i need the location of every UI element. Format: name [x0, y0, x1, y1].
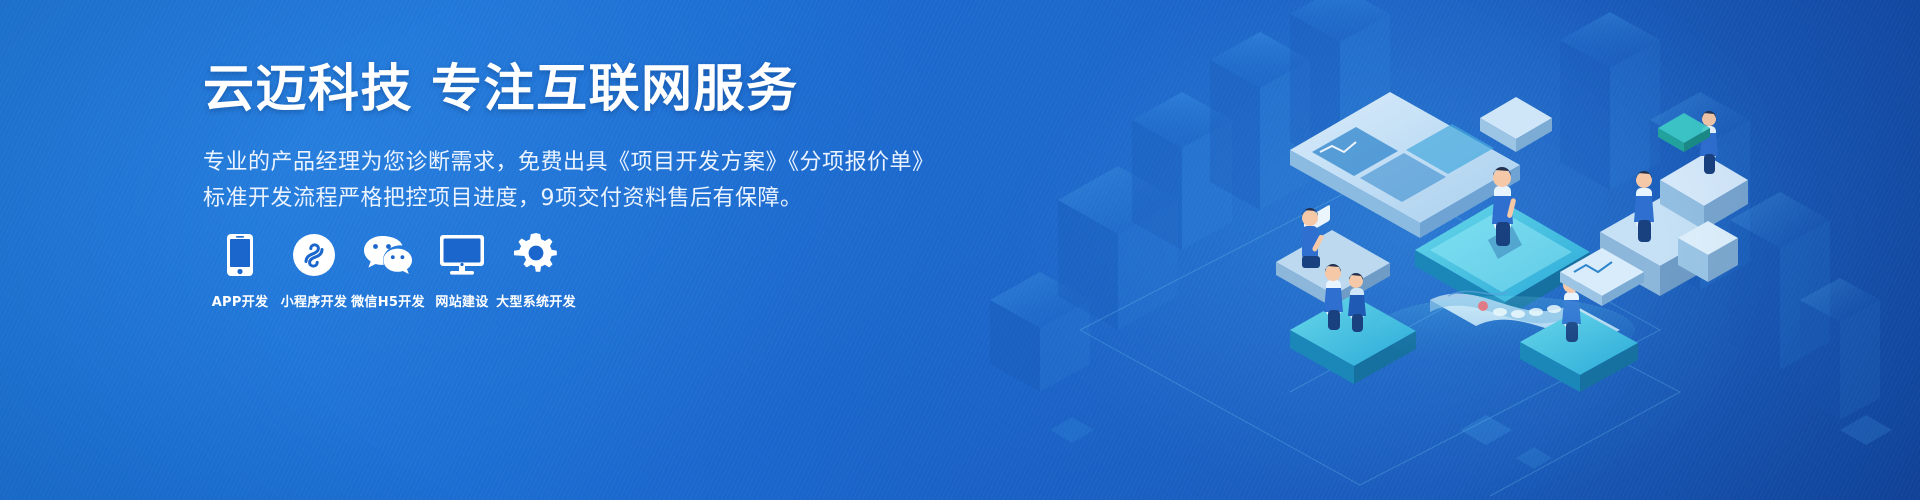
mobile-phone-icon [226, 232, 254, 278]
hero-illustration [960, 0, 1920, 500]
gear-icon [514, 232, 558, 278]
hero-banner: 云迈科技专注互联网服务 专业的产品经理为您诊断需求，免费出具《项目开发方案》《分… [0, 0, 1920, 500]
subtitle-line-1: 专业的产品经理为您诊断需求，免费出具《项目开发方案》《分项报价单》 [203, 145, 923, 181]
headline-brand: 云迈科技 [203, 60, 413, 119]
service-item-wechat[interactable]: 微信H5开发 [351, 232, 425, 310]
service-label-wechat: 微信H5开发 [351, 291, 425, 310]
service-item-miniprogram[interactable]: 小程序开发 [277, 232, 351, 310]
service-item-website[interactable]: 网站建设 [425, 232, 499, 310]
subtitle-line-2: 标准开发流程严格把控项目进度，9项交付资料售后有保障。 [203, 181, 923, 217]
mini-program-icon [292, 232, 336, 278]
service-item-app[interactable]: APP开发 [203, 232, 277, 310]
service-label-website: 网站建设 [435, 291, 488, 310]
service-icon-list: APP开发 小程序开发 [203, 232, 573, 310]
floating-card-upper [1480, 97, 1552, 152]
hero-content: 云迈科技专注互联网服务 专业的产品经理为您诊断需求，免费出具《项目开发方案》《分… [203, 64, 923, 216]
service-label-app: APP开发 [212, 291, 269, 310]
service-item-system[interactable]: 大型系统开发 [499, 232, 573, 310]
service-label-miniprogram: 小程序开发 [281, 291, 348, 310]
monitor-icon [439, 232, 485, 278]
page-title: 云迈科技专注互联网服务 [203, 64, 923, 115]
platform-glow [1375, 296, 1635, 364]
background-blocks [990, 0, 1892, 469]
headline-tagline: 专注互联网服务 [431, 60, 799, 119]
wechat-icon [363, 232, 413, 278]
service-label-system: 大型系统开发 [496, 291, 576, 310]
